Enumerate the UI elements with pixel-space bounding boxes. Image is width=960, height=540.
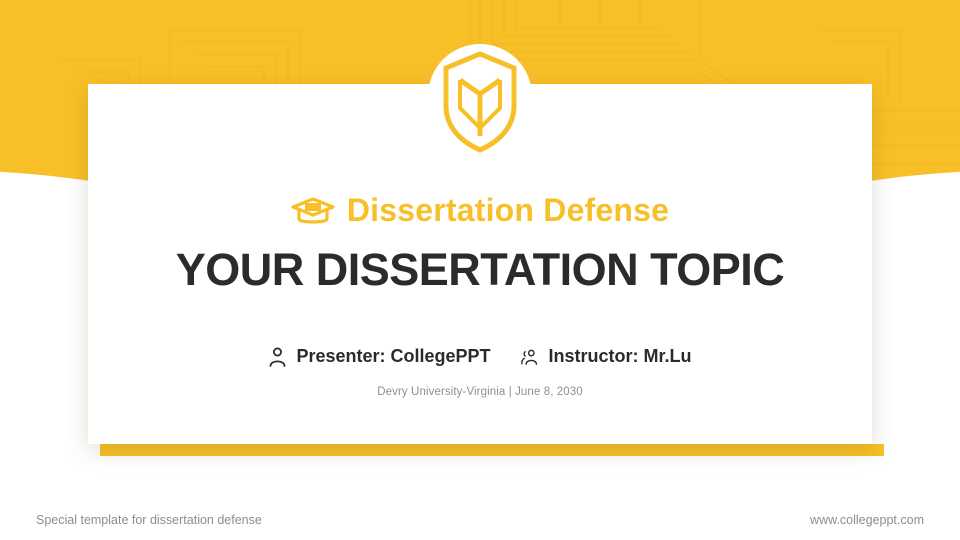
- meta-line: Devry University-Virginia | June 8, 2030: [88, 386, 872, 398]
- page-title: YOUR DISSERTATION TOPIC: [88, 244, 872, 296]
- subtitle-text: Dissertation Defense: [347, 192, 669, 229]
- people-row: Presenter: CollegePPT Instructor: Mr.Lu: [88, 346, 872, 367]
- people-group-icon: [521, 347, 540, 367]
- instructor-item: Instructor: Mr.Lu: [521, 346, 692, 367]
- footer-right-text: www.collegeppt.com: [810, 513, 924, 527]
- card-underline: [100, 444, 884, 456]
- subtitle-row: Dissertation Defense: [88, 192, 872, 229]
- graduation-cap-icon: [291, 196, 335, 226]
- person-icon: [268, 347, 287, 367]
- footer-left-text: Special template for dissertation defens…: [36, 513, 262, 527]
- shield-emblem-icon: [440, 50, 520, 154]
- presenter-label: Presenter: CollegePPT: [296, 346, 490, 367]
- slide-canvas: Dissertation Defense YOUR DISSERTATION T…: [0, 0, 960, 540]
- instructor-label: Instructor: Mr.Lu: [549, 346, 692, 367]
- presenter-item: Presenter: CollegePPT: [268, 346, 490, 367]
